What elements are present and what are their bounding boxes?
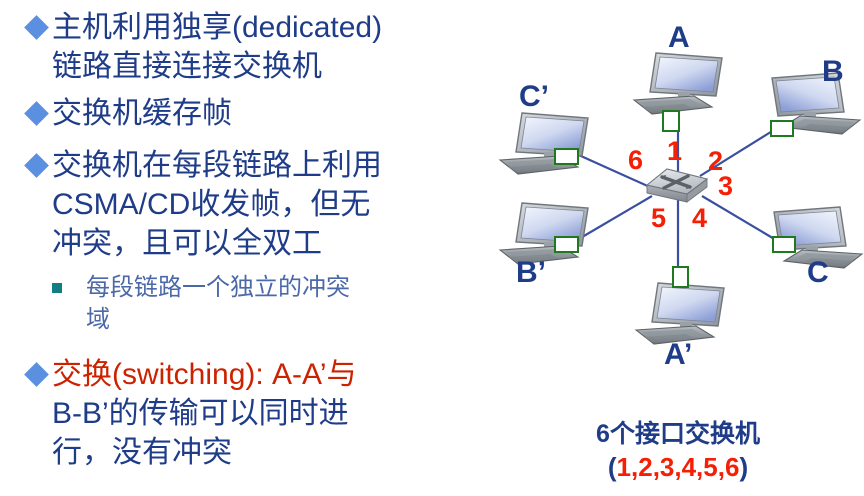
bullet-item-4-text: 每段链路一个独立的冲突 域 <box>86 272 350 336</box>
host-A-computer[interactable] <box>626 48 730 122</box>
bullet-item-5-text-red: 交换(switching): A-A’与 <box>52 355 356 394</box>
host-A-nic-icon <box>662 110 680 132</box>
port-label-5: 5 <box>651 205 666 232</box>
caption-port-digits: 1,2,3,4,5,6 <box>617 452 740 482</box>
host-C-label: C <box>807 258 829 288</box>
bullet-item-5-text-navy: B-B’的传输可以同时进 行，没有冲突 <box>52 394 356 472</box>
host-A-label: A <box>668 23 690 53</box>
host-B-prime-nic-icon <box>554 236 579 253</box>
host-A-prime-label: A’ <box>664 340 692 370</box>
host-C-prime-nic-icon <box>554 148 579 165</box>
port-label-6: 6 <box>628 147 643 174</box>
caption-paren-close: ) <box>739 452 748 482</box>
bullet-item-5: 交换(switching): A-A’与 B-B’的传输可以同时进 行，没有冲突 <box>26 355 486 472</box>
host-B-label: B <box>822 57 844 87</box>
ethernet-switch[interactable] <box>644 162 710 206</box>
caption-line-1: 6个接口交换机 <box>492 418 864 451</box>
square-bullet-icon <box>52 272 86 282</box>
diagram-caption: 6个接口交换机 (1,2,3,4,5,6) <box>492 418 864 484</box>
host-C-prime-computer[interactable] <box>492 108 596 182</box>
diamond-cluster-bullet-icon <box>26 155 52 176</box>
caption-line-2: (1,2,3,4,5,6) <box>492 451 864 484</box>
network-diagram: A B <box>492 0 864 496</box>
bullet-item-4-sub: 每段链路一个独立的冲突 域 <box>52 272 482 336</box>
host-A-prime-nic-icon <box>672 266 689 288</box>
bullet-item-1-text: 主机利用独享(dedicated) 链路直接连接交换机 <box>52 8 382 86</box>
port-label-4: 4 <box>692 205 707 232</box>
host-B-prime-label: B’ <box>516 258 546 288</box>
bullet-item-1: 主机利用独享(dedicated) 链路直接连接交换机 <box>26 8 486 86</box>
host-C-prime-label: C’ <box>519 82 549 112</box>
bullet-item-3: 交换机在每段链路上利用 CSMA/CD收发帧，但无 冲突，且可以全双工 <box>26 146 486 263</box>
port-label-1: 1 <box>667 138 682 165</box>
diamond-cluster-bullet-icon <box>26 103 52 124</box>
port-label-3: 3 <box>718 173 733 200</box>
caption-paren-open: ( <box>608 452 617 482</box>
bullet-item-2-text: 交换机缓存帧 <box>52 94 232 133</box>
bullet-item-2: 交换机缓存帧 <box>26 94 486 133</box>
host-B-nic-icon <box>770 120 794 137</box>
bullet-list: 主机利用独享(dedicated) 链路直接连接交换机 交换机缓存帧 交换机在每… <box>0 0 492 496</box>
slide-canvas: 主机利用独享(dedicated) 链路直接连接交换机 交换机缓存帧 交换机在每… <box>0 0 864 496</box>
switch-x-icon <box>644 162 710 206</box>
host-C-nic-icon <box>772 236 796 253</box>
host-B-computer[interactable] <box>764 68 864 142</box>
diamond-cluster-bullet-icon <box>26 17 52 38</box>
bullet-item-3-text: 交换机在每段链路上利用 CSMA/CD收发帧，但无 冲突，且可以全双工 <box>52 146 382 263</box>
diamond-cluster-bullet-icon <box>26 364 52 385</box>
